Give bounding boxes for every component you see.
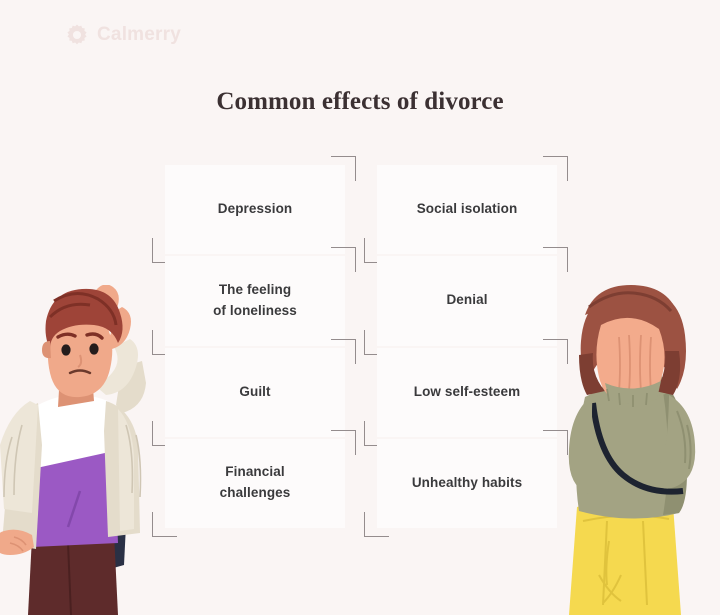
infographic-canvas: Calmerry Common effects of divorce Depre… [0,0,720,615]
effect-card[interactable]: Social isolation [377,165,557,254]
worried-man-illustration [0,285,179,615]
effect-label: Unhealthy habits [406,473,528,494]
effect-card[interactable]: Guilt [165,348,345,437]
effect-label: The feelingof loneliness [207,280,303,322]
crying-woman-illustration [549,285,720,615]
effect-card[interactable]: The feelingof loneliness [165,256,345,345]
effect-card[interactable]: Financialchallenges [165,439,345,528]
effect-label: Depression [212,199,299,220]
effect-label: Low self-esteem [408,382,527,403]
flower-gear-icon [66,24,88,46]
brand-name: Calmerry [97,24,181,46]
effect-card[interactable]: Unhealthy habits [377,439,557,528]
effect-label: Social isolation [411,199,524,220]
effect-label: Guilt [233,382,276,403]
effects-grid: Depression Social isolation The feelingo… [165,165,557,530]
brand-logo: Calmerry [66,24,181,46]
effect-card[interactable]: Denial [377,256,557,345]
effect-label: Denial [440,290,493,311]
effect-card[interactable]: Low self-esteem [377,348,557,437]
effect-label: Financialchallenges [214,462,297,504]
page-title: Common effects of divorce [0,88,720,116]
effect-card[interactable]: Depression [165,165,345,254]
